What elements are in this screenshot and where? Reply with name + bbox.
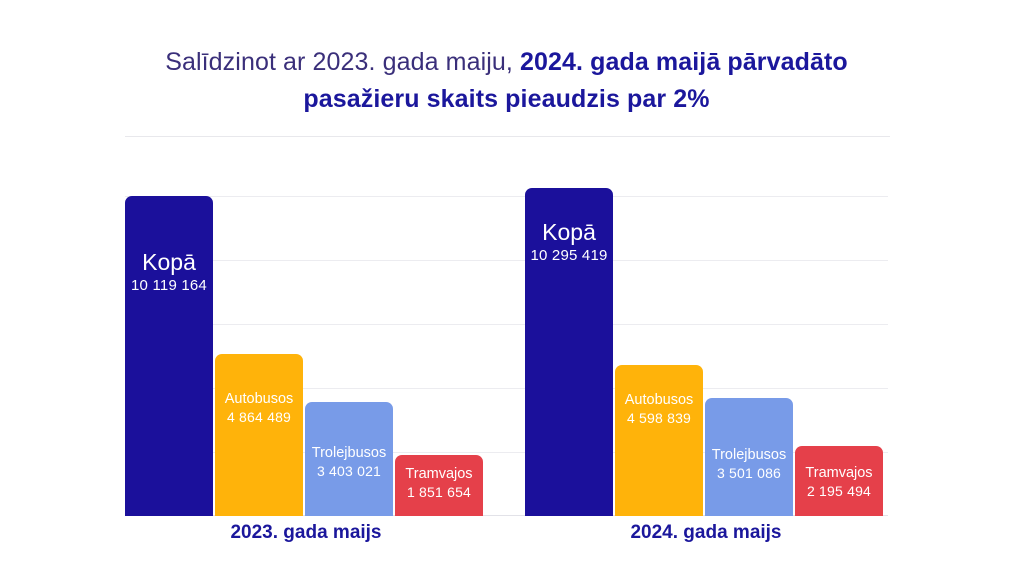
chart-title: Salīdzinot ar 2023. gada maiju, 2024. ga…: [0, 44, 1013, 118]
bar-label-trolejbusos-2024: Trolejbusos 3 501 086: [705, 446, 793, 482]
header-divider: [125, 136, 890, 137]
bar-trolejbusos-2023[interactable]: Trolejbusos 3 403 021: [305, 402, 393, 516]
x-axis-tick-2023: 2023. gada maijs: [125, 522, 487, 544]
bar-series-name: Tramvajos: [397, 465, 481, 483]
bar-trolejbusos-2024[interactable]: Trolejbusos 3 501 086: [705, 398, 793, 516]
bar-value-label: 3 501 086: [707, 464, 791, 482]
chart-title-line-2: pasažieru skaits pieaudzis par 2%: [0, 81, 1013, 118]
bar-label-trolejbusos-2023: Trolejbusos 3 403 021: [305, 444, 393, 480]
bar-label-kopa-2024: Kopā 10 295 419: [525, 218, 613, 266]
x-axis-tick-2024: 2024. gada maijs: [525, 522, 887, 544]
bar-tramvajos-2024[interactable]: Tramvajos 2 195 494: [795, 446, 883, 516]
bar-kopa-2023[interactable]: Kopā 10 119 164: [125, 196, 213, 516]
bar-series-name: Tramvajos: [797, 464, 881, 482]
bar-value-label: 4 864 489: [217, 408, 301, 426]
bar-value-label: 3 403 021: [307, 462, 391, 480]
bar-label-tramvajos-2024: Tramvajos 2 195 494: [795, 464, 883, 500]
bar-label-tramvajos-2023: Tramvajos 1 851 654: [395, 465, 483, 501]
chart-title-bold-text-1: 2024. gada maijā pārvadāto: [520, 48, 848, 76]
bar-value-label: 2 195 494: [797, 482, 881, 500]
bar-label-kopa-2023: Kopā 10 119 164: [125, 248, 213, 296]
chart-title-bold-text-2: pasažieru skaits pieaudzis par 2%: [303, 85, 709, 113]
plot-area: Kopā 10 119 164 Autobusos 4 864 489 Trol…: [125, 196, 888, 516]
bar-series-name: Autobusos: [617, 391, 701, 409]
bar-label-autobusos-2024: Autobusos 4 598 839: [615, 391, 703, 427]
bar-series-name: Autobusos: [217, 390, 301, 408]
bar-label-autobusos-2023: Autobusos 4 864 489: [215, 390, 303, 426]
bar-value-label: 10 119 164: [127, 276, 211, 296]
bar-tramvajos-2023[interactable]: Tramvajos 1 851 654: [395, 455, 483, 516]
bar-autobusos-2023[interactable]: Autobusos 4 864 489: [215, 354, 303, 516]
bar-value-label: 10 295 419: [527, 246, 611, 266]
bar-series-name: Trolejbusos: [707, 446, 791, 464]
chart-title-line-1: Salīdzinot ar 2023. gada maiju, 2024. ga…: [0, 44, 1013, 81]
bar-series-name: Kopā: [127, 248, 211, 276]
bar-series-name: Kopā: [527, 218, 611, 246]
bar-group-2024: Kopā 10 295 419 Autobusos 4 598 839 Trol…: [525, 196, 887, 516]
bar-series-name: Trolejbusos: [307, 444, 391, 462]
bar-value-label: 1 851 654: [397, 483, 481, 501]
bar-group-2023: Kopā 10 119 164 Autobusos 4 864 489 Trol…: [125, 196, 487, 516]
bar-value-label: 4 598 839: [617, 409, 701, 427]
bar-kopa-2024[interactable]: Kopā 10 295 419: [525, 188, 613, 516]
bar-autobusos-2024[interactable]: Autobusos 4 598 839: [615, 365, 703, 516]
chart-title-light-text: Salīdzinot ar 2023. gada maiju,: [165, 48, 520, 76]
